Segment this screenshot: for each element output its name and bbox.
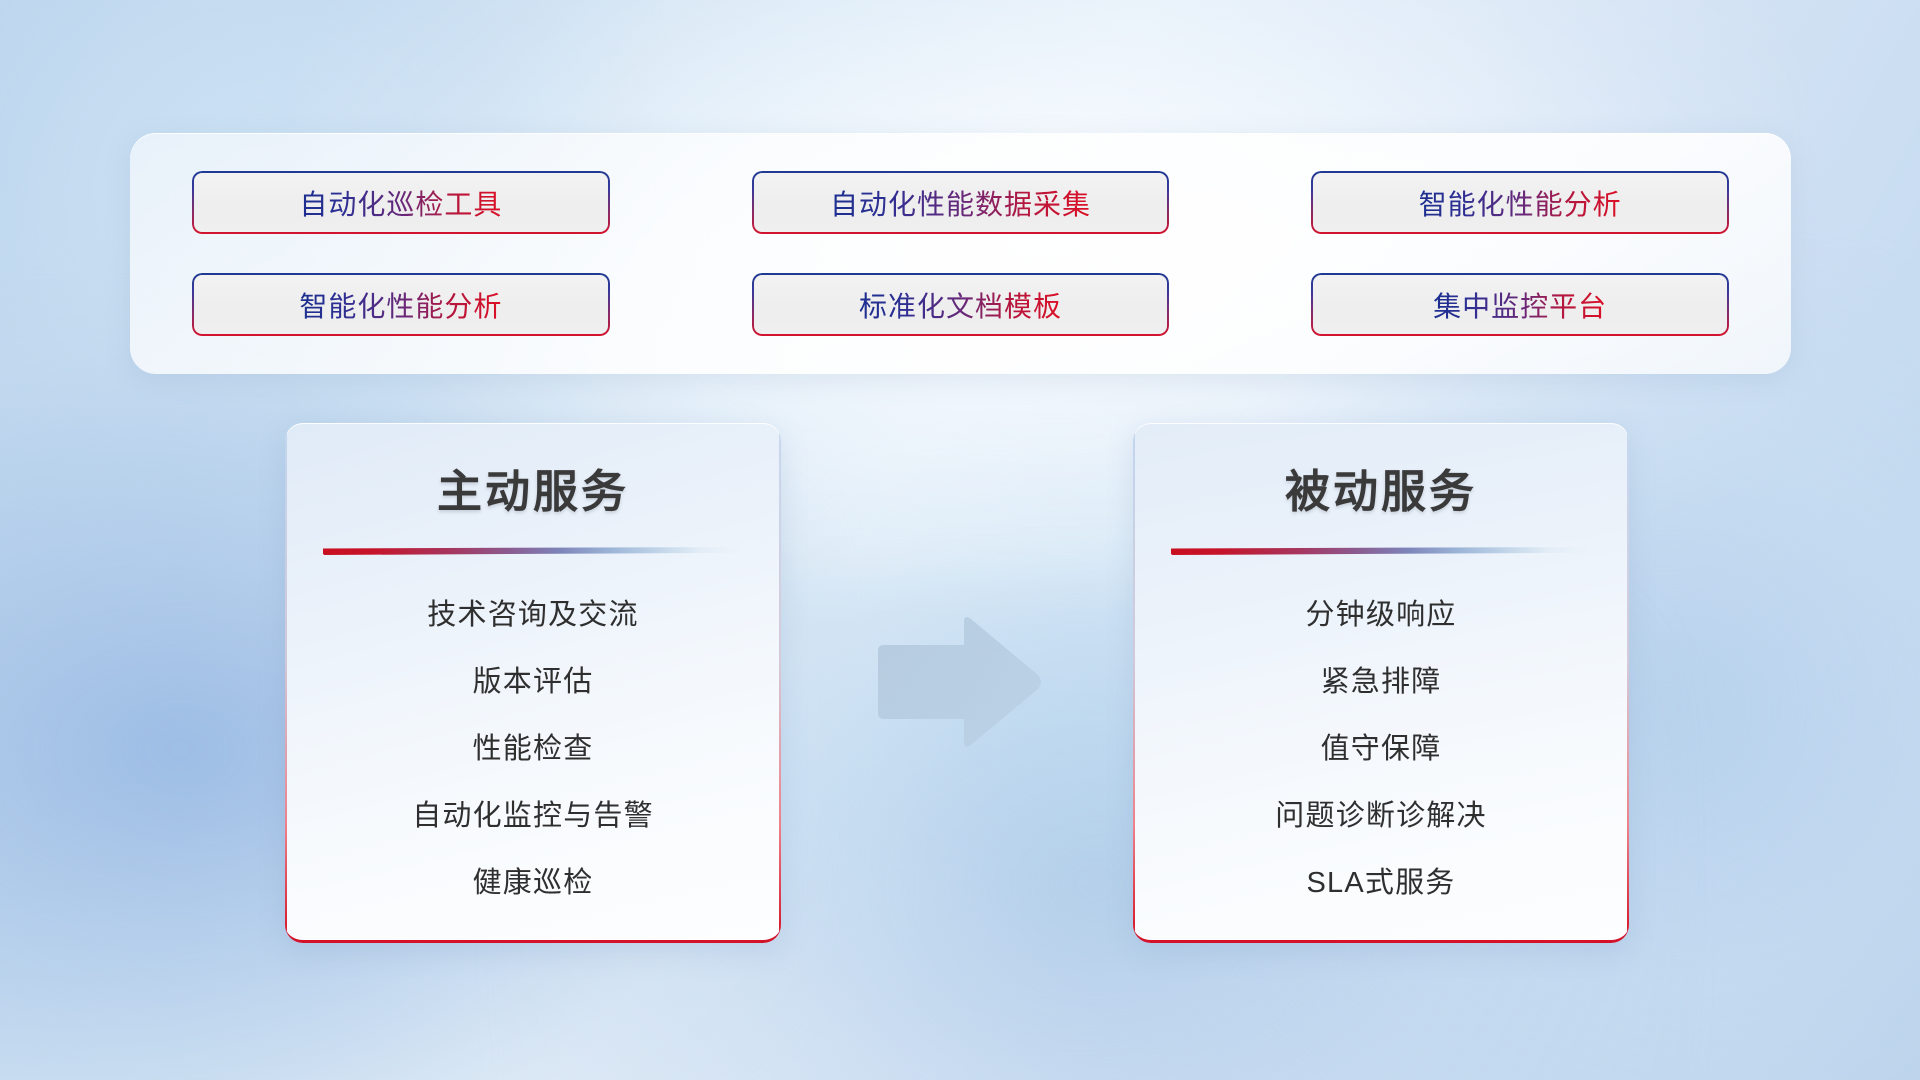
service-card-proactive: 主动服务 技术咨询及交流 版本评估 性能检查 自动化监控与告警 健康巡检	[285, 423, 781, 943]
card-title: 主动服务	[285, 455, 781, 520]
slide-canvas: 自动化巡检工具 自动化性能数据采集 智能化性能分析 智能化性能分析 标准化文档模…	[0, 0, 1920, 1080]
service-item-list: 分钟级响应 紧急排障 值守保障 问题诊断诊解决 SLA式服务	[1133, 591, 1629, 901]
list-item: 版本评估	[285, 658, 781, 700]
divider-gradient-bar	[323, 547, 743, 555]
divider-gradient-bar	[1171, 547, 1591, 555]
arrow-right-icon	[872, 612, 1044, 752]
capability-chip-grid: 自动化巡检工具 自动化性能数据采集 智能化性能分析 智能化性能分析 标准化文档模…	[178, 171, 1743, 336]
capability-chip-label: 智能化性能分析	[299, 285, 502, 325]
capability-chip-label: 自动化性能数据采集	[830, 183, 1091, 223]
list-item: 紧急排障	[1133, 658, 1629, 700]
capability-chip-automated-inspection-tool[interactable]: 自动化巡检工具	[192, 171, 610, 234]
capability-chip-label: 自动化巡检工具	[299, 183, 502, 223]
card-title-divider	[1171, 547, 1591, 555]
capability-chip-label: 标准化文档模板	[859, 285, 1062, 325]
capability-chip-label: 集中监控平台	[1433, 285, 1607, 325]
list-item: 自动化监控与告警	[285, 792, 781, 834]
service-card-reactive: 被动服务 分钟级响应 紧急排障 值守保障 问题诊断诊解决 SLA式服务	[1133, 423, 1629, 943]
capability-chip-intelligent-performance-analysis-2[interactable]: 智能化性能分析	[192, 273, 610, 336]
list-item: 问题诊断诊解决	[1133, 792, 1629, 834]
capability-chip-centralized-monitoring-platform[interactable]: 集中监控平台	[1311, 273, 1729, 336]
list-item: 值守保障	[1133, 725, 1629, 767]
capability-chip-label: 智能化性能分析	[1419, 183, 1622, 223]
capability-chip-standardized-doc-template[interactable]: 标准化文档模板	[752, 273, 1170, 336]
capability-chip-intelligent-performance-analysis-1[interactable]: 智能化性能分析	[1311, 171, 1729, 234]
card-title: 被动服务	[1133, 455, 1629, 520]
list-item: 性能检查	[285, 725, 781, 767]
capability-chip-automated-performance-collection[interactable]: 自动化性能数据采集	[752, 171, 1170, 234]
list-item: 健康巡检	[285, 859, 781, 901]
capability-panel: 自动化巡检工具 自动化性能数据采集 智能化性能分析 智能化性能分析 标准化文档模…	[130, 133, 1791, 374]
flow-arrow	[872, 612, 1044, 752]
service-item-list: 技术咨询及交流 版本评估 性能检查 自动化监控与告警 健康巡检	[285, 591, 781, 901]
list-item: 分钟级响应	[1133, 591, 1629, 633]
list-item: SLA式服务	[1133, 859, 1629, 901]
card-title-divider	[323, 547, 743, 555]
list-item: 技术咨询及交流	[285, 591, 781, 633]
